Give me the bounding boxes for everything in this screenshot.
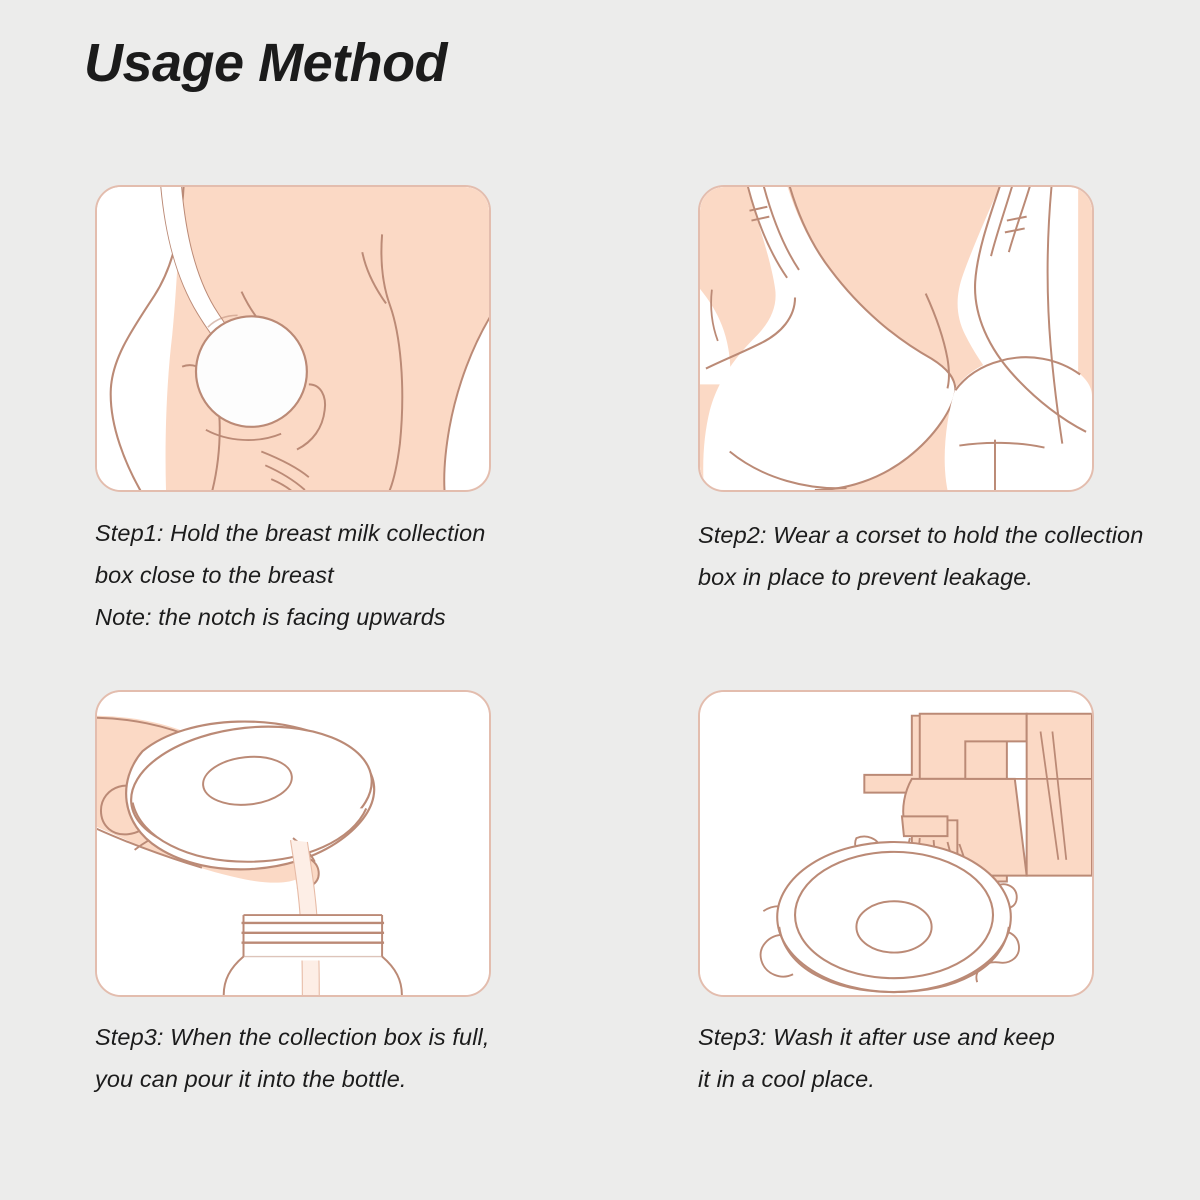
step-2-caption-line-2: box in place to prevent leakage. xyxy=(698,556,1198,598)
steps-grid: Step1: Hold the breast milk collection b… xyxy=(0,0,1200,1200)
step-2-caption-line-1: Step2: Wear a corset to hold the collect… xyxy=(698,514,1198,556)
step-card-4: Step3: Wash it after use and keep it in … xyxy=(698,690,1198,1100)
step-1-caption-line-3: Note: the notch is facing upwards xyxy=(95,596,595,638)
step-3-caption-line-1: Step3: When the collection box is full, xyxy=(95,1016,595,1058)
step-3-caption-line-2: you can pour it into the bottle. xyxy=(95,1058,595,1100)
step-1-caption: Step1: Hold the breast milk collection b… xyxy=(95,512,595,638)
step-1-illustration-card xyxy=(95,185,491,492)
washing-box-under-faucet-icon xyxy=(700,692,1092,995)
pouring-milk-into-bottle-icon xyxy=(97,692,489,995)
step-4-caption-line-2: it in a cool place. xyxy=(698,1058,1198,1100)
step-4-caption-line-1: Step3: Wash it after use and keep xyxy=(698,1016,1198,1058)
step-3-caption: Step3: When the collection box is full, … xyxy=(95,1016,595,1100)
step-2-illustration-card xyxy=(698,185,1094,492)
step-card-1: Step1: Hold the breast milk collection b… xyxy=(95,185,595,638)
step-3-illustration-card xyxy=(95,690,491,997)
step-2-caption: Step2: Wear a corset to hold the collect… xyxy=(698,514,1198,598)
step-4-illustration-card xyxy=(698,690,1094,997)
step-card-3: Step3: When the collection box is full, … xyxy=(95,690,595,1100)
bra-worn-over-chest-icon xyxy=(700,187,1092,490)
hand-holding-collection-box-icon xyxy=(97,187,489,490)
step-1-caption-line-2: box close to the breast xyxy=(95,554,595,596)
step-1-caption-line-1: Step1: Hold the breast milk collection xyxy=(95,512,595,554)
step-4-caption: Step3: Wash it after use and keep it in … xyxy=(698,1016,1198,1100)
step-card-2: Step2: Wear a corset to hold the collect… xyxy=(698,185,1198,598)
usage-method-page: Usage Method xyxy=(0,0,1200,1200)
